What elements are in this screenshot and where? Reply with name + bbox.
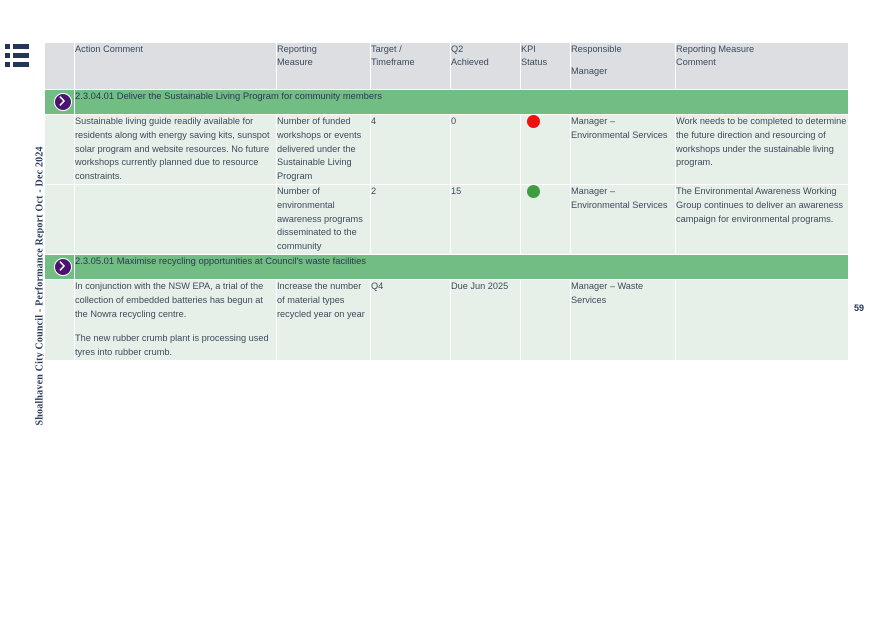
- row-marker-cell: [45, 115, 75, 185]
- cell-kpi-status: [521, 279, 571, 360]
- column-header-kpi-status: KPI Status: [521, 43, 571, 90]
- list-icon-bar: [13, 53, 29, 58]
- list-icon-dot: [5, 44, 10, 49]
- cell-reporting-measure-comment: [676, 279, 849, 360]
- list-icon-row: [5, 53, 29, 58]
- cell-target-timeframe: 2: [371, 184, 451, 254]
- column-header-reporting-measure: Reporting Measure: [277, 43, 371, 90]
- cell-reporting-measure: Number of funded workshops or events del…: [277, 115, 371, 185]
- cell-action-comment: Sustainable living guide readily availab…: [75, 115, 277, 185]
- column-header-label-line2: Manager: [571, 65, 675, 78]
- column-header-action-comment: Action Comment: [75, 43, 277, 90]
- list-icon-dot: [5, 53, 10, 58]
- column-header-label-line2: Status: [521, 56, 570, 69]
- table-body: 2.3.04.01 Deliver the Sustainable Living…: [45, 90, 849, 361]
- list-icon-dot: [5, 62, 10, 67]
- table-row[interactable]: Number of environmental awareness progra…: [45, 184, 849, 254]
- column-header-label: Action Comment: [75, 44, 143, 54]
- cell-target-timeframe: Q4: [371, 279, 451, 360]
- chevron-right-icon[interactable]: [54, 93, 72, 111]
- list-icon-row: [5, 62, 29, 67]
- column-header-marker: [45, 43, 75, 90]
- column-header-label: Reporting Measure: [676, 44, 754, 54]
- column-header-label: Q2: [451, 44, 463, 54]
- cell-q2-achieved: 15: [451, 184, 521, 254]
- action-comment-paragraph: The new rubber crumb plant is processing…: [75, 332, 276, 360]
- section-header-row[interactable]: 2.3.05.01 Maximise recycling opportuniti…: [45, 254, 849, 279]
- section-title: 2.3.04.01 Deliver the Sustainable Living…: [75, 90, 849, 115]
- action-comment-paragraph: In conjunction with the NSW EPA, a trial…: [75, 280, 276, 321]
- column-header-responsible-manager: Responsible Manager: [571, 43, 676, 90]
- column-header-label-line2: Measure: [277, 56, 370, 69]
- section-header-row[interactable]: 2.3.04.01 Deliver the Sustainable Living…: [45, 90, 849, 115]
- list-icon-bar: [13, 62, 29, 67]
- cell-action-comment: In conjunction with the NSW EPA, a trial…: [75, 279, 277, 360]
- row-marker-cell: [45, 279, 75, 360]
- section-marker-cell: [45, 254, 75, 279]
- cell-responsible-manager: Manager – Waste Services: [571, 279, 676, 360]
- table-header: Action Comment Reporting Measure Target …: [45, 43, 849, 90]
- cell-target-timeframe: 4: [371, 115, 451, 185]
- cell-action-comment: [75, 184, 277, 254]
- cell-responsible-manager: Manager – Environmental Services: [571, 115, 676, 185]
- column-header-q2-achieved: Q2 Achieved: [451, 43, 521, 90]
- table-header-row: Action Comment Reporting Measure Target …: [45, 43, 849, 90]
- left-rail: Shoalhaven City Council - Performance Re…: [0, 0, 44, 628]
- cell-reporting-measure: Increase the number of material types re…: [277, 279, 371, 360]
- cell-reporting-measure-comment: Work needs to be completed to determine …: [676, 115, 849, 185]
- column-header-label: Target /: [371, 44, 402, 54]
- list-icon[interactable]: [5, 44, 29, 70]
- row-marker-cell: [45, 184, 75, 254]
- column-header-label-line2: Timeframe: [371, 56, 450, 69]
- cell-q2-achieved: 0: [451, 115, 521, 185]
- cell-reporting-measure: Number of environmental awareness progra…: [277, 184, 371, 254]
- column-header-label-line2: Comment: [676, 56, 848, 69]
- cell-responsible-manager: Manager – Environmental Services: [571, 184, 676, 254]
- cell-kpi-status: [521, 115, 571, 185]
- column-header-label: Reporting: [277, 44, 317, 54]
- column-header-target-timeframe: Target / Timeframe: [371, 43, 451, 90]
- cell-q2-achieved: Due Jun 2025: [451, 279, 521, 360]
- cell-kpi-status: [521, 184, 571, 254]
- status-badge-green: [527, 185, 540, 198]
- column-header-label: KPI: [521, 44, 536, 54]
- performance-report-table: Action Comment Reporting Measure Target …: [44, 42, 849, 361]
- list-icon-row: [5, 44, 29, 49]
- section-title: 2.3.05.01 Maximise recycling opportuniti…: [75, 254, 849, 279]
- list-icon-bar: [13, 44, 29, 49]
- page-number: 59: [854, 303, 864, 313]
- cell-reporting-measure-comment: The Environmental Awareness Working Grou…: [676, 184, 849, 254]
- status-badge-red: [527, 115, 540, 128]
- column-header-label-line2: Achieved: [451, 56, 520, 69]
- column-header-reporting-measure-comment: Reporting Measure Comment: [676, 43, 849, 90]
- table-row[interactable]: In conjunction with the NSW EPA, a trial…: [45, 279, 849, 360]
- column-header-label: Responsible: [571, 44, 622, 54]
- chevron-right-icon[interactable]: [54, 258, 72, 276]
- action-comment-paragraph: Sustainable living guide readily availab…: [75, 115, 276, 184]
- table-row[interactable]: Sustainable living guide readily availab…: [45, 115, 849, 185]
- section-marker-cell: [45, 90, 75, 115]
